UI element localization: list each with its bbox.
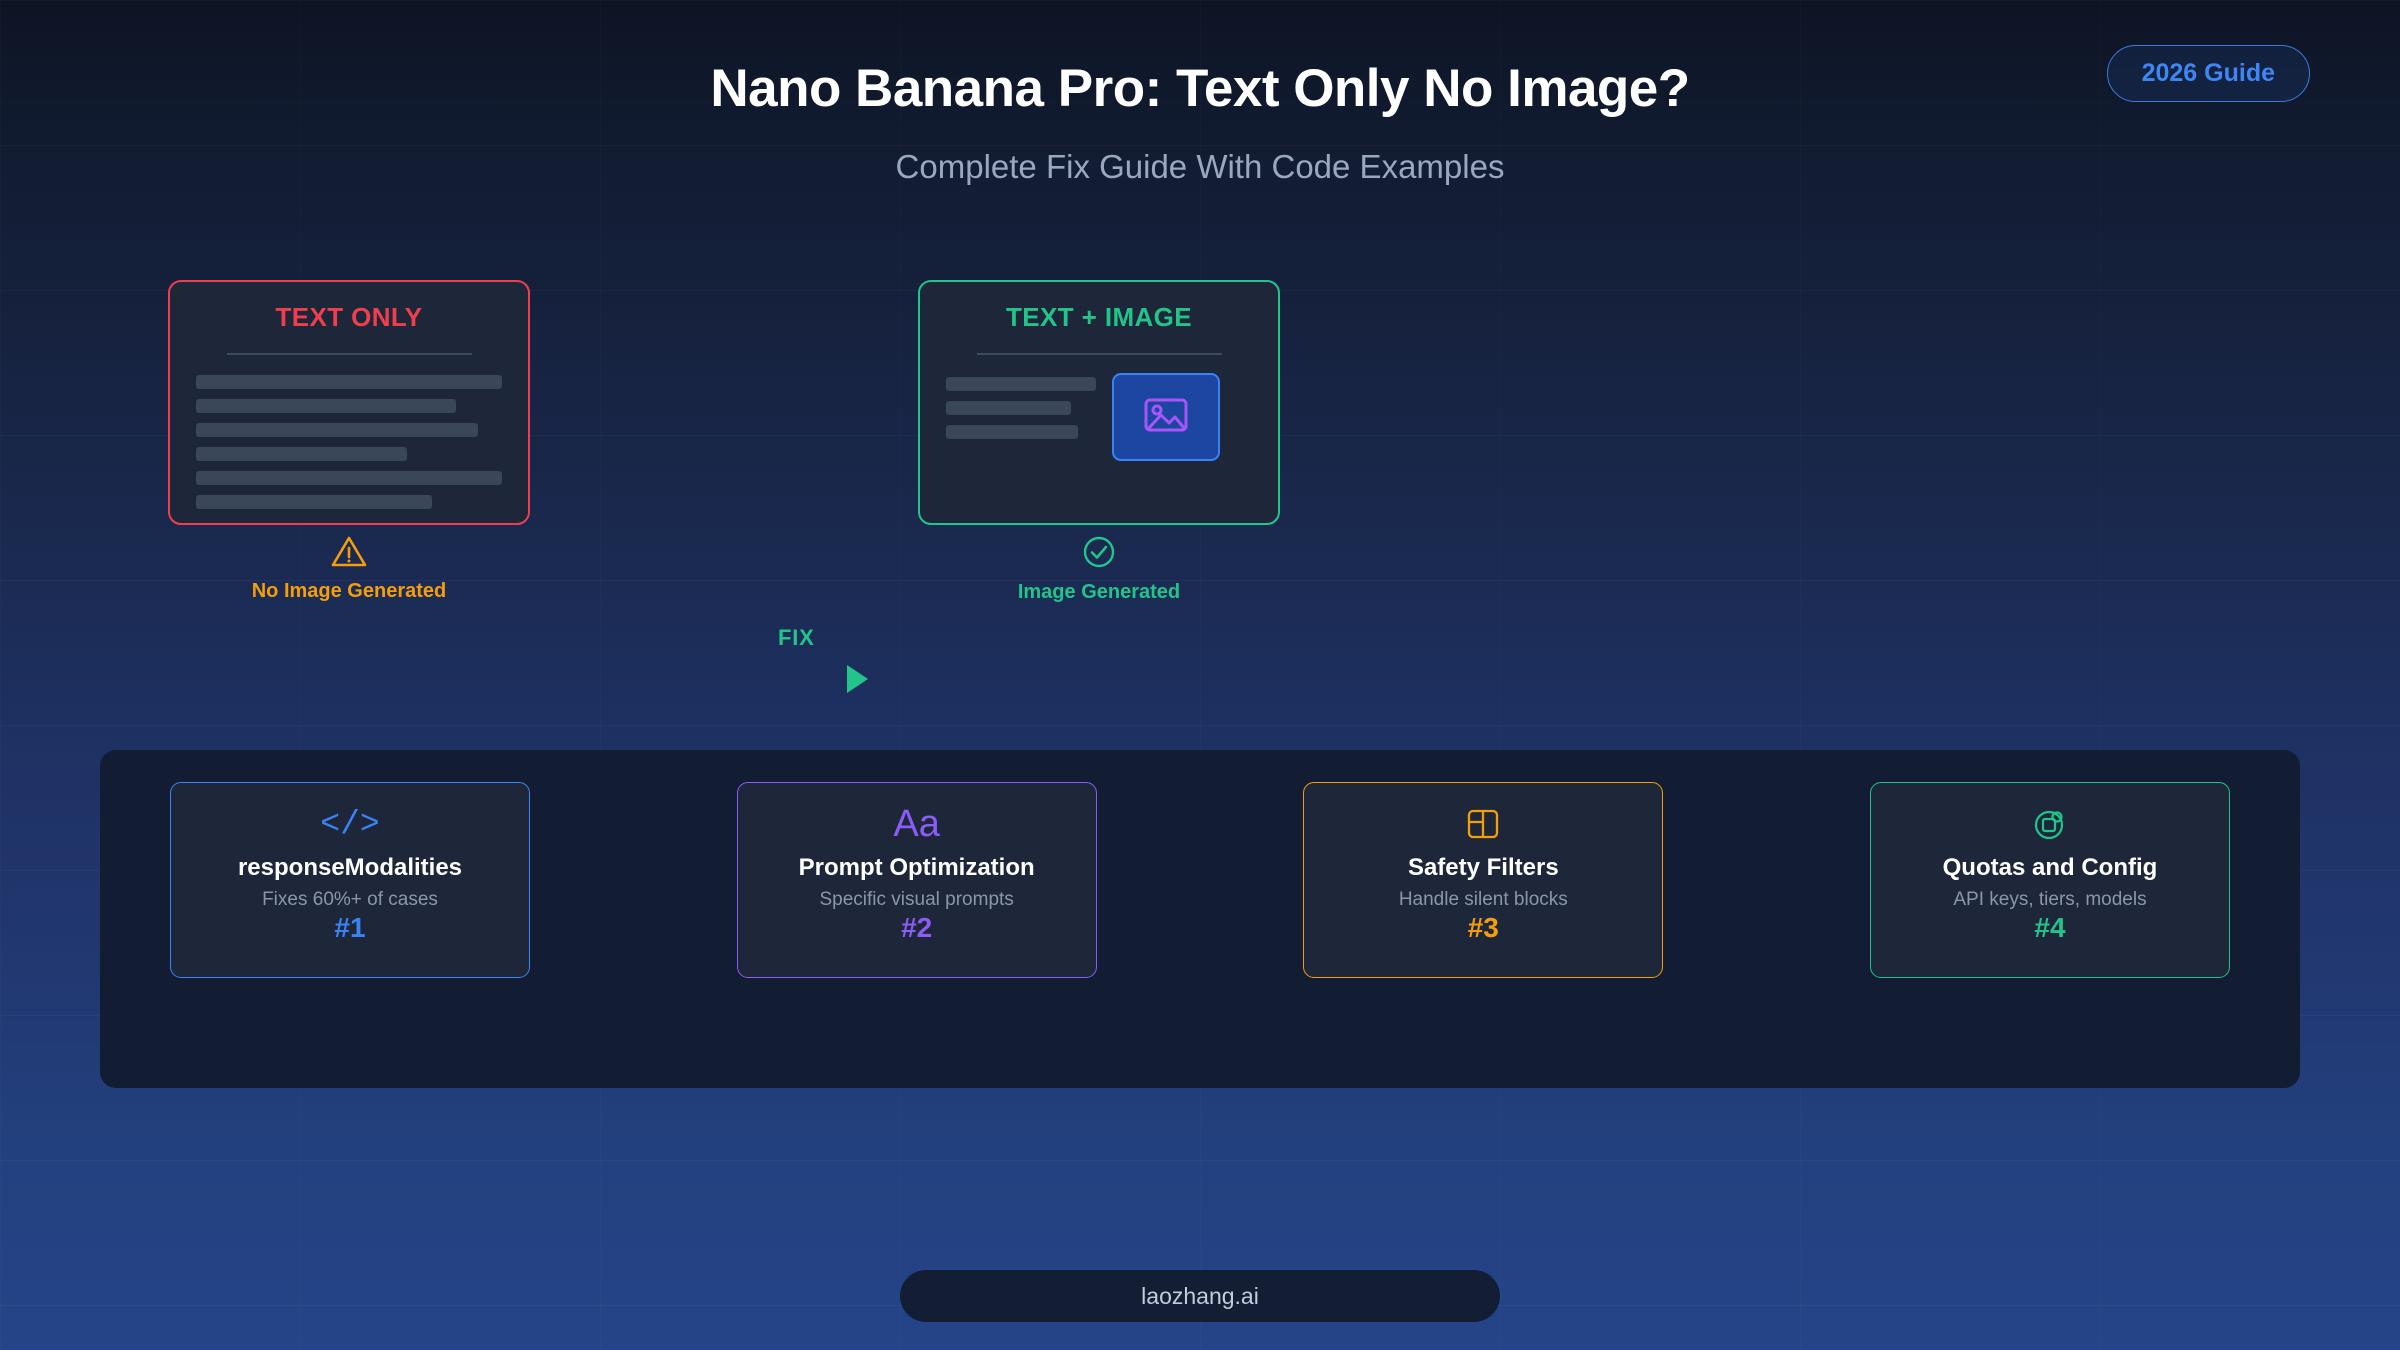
solution-card-title: Safety Filters xyxy=(1408,854,1559,882)
skeleton-line xyxy=(946,377,1096,391)
fix-arrow-group: FIX xyxy=(770,610,900,700)
solution-card-title: responseModalities xyxy=(238,854,462,882)
solution-card-subtitle: API keys, tiers, models xyxy=(1953,889,2146,911)
skeleton-line xyxy=(196,423,478,437)
solution-card-rank: #3 xyxy=(1468,912,1499,944)
footer-brand-pill[interactable]: laozhang.ai xyxy=(900,1270,1500,1322)
footer-brand-label: laozhang.ai xyxy=(1141,1283,1259,1310)
code-brackets-icon: </> xyxy=(320,803,379,845)
play-triangle-icon xyxy=(847,665,868,693)
solution-card-title: Prompt Optimization xyxy=(799,854,1035,882)
fix-label: FIX xyxy=(778,625,815,651)
header: Nano Banana Pro: Text Only No Image? Com… xyxy=(0,0,2400,220)
text-format-icon: Aa xyxy=(893,803,939,845)
page-subtitle: Complete Fix Guide With Code Examples xyxy=(0,148,2400,186)
solution-card-response-modalities[interactable]: </> responseModalities Fixes 60%+ of cas… xyxy=(170,782,530,978)
check-circle-icon xyxy=(918,535,1280,574)
solutions-panel: </> responseModalities Fixes 60%+ of cas… xyxy=(100,750,2300,1088)
text-only-card: TEXT ONLY xyxy=(168,280,530,525)
solutions-grid: </> responseModalities Fixes 60%+ of cas… xyxy=(170,782,2230,978)
text-plus-image-card: TEXT + IMAGE xyxy=(918,280,1280,525)
text-plus-image-body xyxy=(946,373,1252,461)
solution-card-subtitle: Handle silent blocks xyxy=(1399,889,1568,911)
code-brackets-icon-glyph: </> xyxy=(320,808,379,841)
solution-card-quotas-and-config[interactable]: Quotas and Config API keys, tiers, model… xyxy=(1870,782,2230,978)
comparison-section: TEXT ONLY No Image Generated FIX TEXT + … xyxy=(0,270,2400,600)
text-plus-image-card-title: TEXT + IMAGE xyxy=(946,302,1252,333)
warning-triangle-icon xyxy=(168,535,530,573)
skeleton-line xyxy=(196,399,456,413)
solution-card-subtitle: Fixes 60%+ of cases xyxy=(262,889,438,911)
text-plus-image-status-label: Image Generated xyxy=(1018,581,1180,603)
solution-card-prompt-optimization[interactable]: Aa Prompt Optimization Specific visual p… xyxy=(737,782,1097,978)
solution-card-rank: #2 xyxy=(901,912,932,944)
layout-grid-icon xyxy=(1467,803,1499,845)
solution-card-subtitle: Specific visual prompts xyxy=(820,889,1014,911)
text-plus-image-status: Image Generated xyxy=(918,535,1280,604)
text-only-card-title: TEXT ONLY xyxy=(196,302,502,333)
key-circle-icon xyxy=(2033,803,2067,845)
text-only-status: No Image Generated xyxy=(168,535,530,603)
divider xyxy=(227,353,472,355)
text-format-icon-glyph: Aa xyxy=(893,805,939,843)
year-guide-badge[interactable]: 2026 Guide xyxy=(2107,45,2310,102)
skeleton-lines xyxy=(196,375,502,509)
solution-card-rank: #4 xyxy=(2034,912,2065,944)
solution-card-rank: #1 xyxy=(334,912,365,944)
skeleton-line xyxy=(946,401,1071,415)
solution-card-safety-filters[interactable]: Safety Filters Handle silent blocks #3 xyxy=(1303,782,1663,978)
skeleton-line xyxy=(196,375,502,389)
skeleton-lines xyxy=(946,373,1096,439)
picture-icon xyxy=(1142,395,1190,440)
text-only-status-label: No Image Generated xyxy=(252,580,447,602)
skeleton-line xyxy=(946,425,1078,439)
solution-card-title: Quotas and Config xyxy=(1943,854,2158,882)
skeleton-line xyxy=(196,471,502,485)
skeleton-line xyxy=(196,495,432,509)
image-placeholder-box xyxy=(1112,373,1220,461)
skeleton-line xyxy=(196,447,407,461)
divider xyxy=(977,353,1222,355)
page-title: Nano Banana Pro: Text Only No Image? xyxy=(0,58,2400,119)
